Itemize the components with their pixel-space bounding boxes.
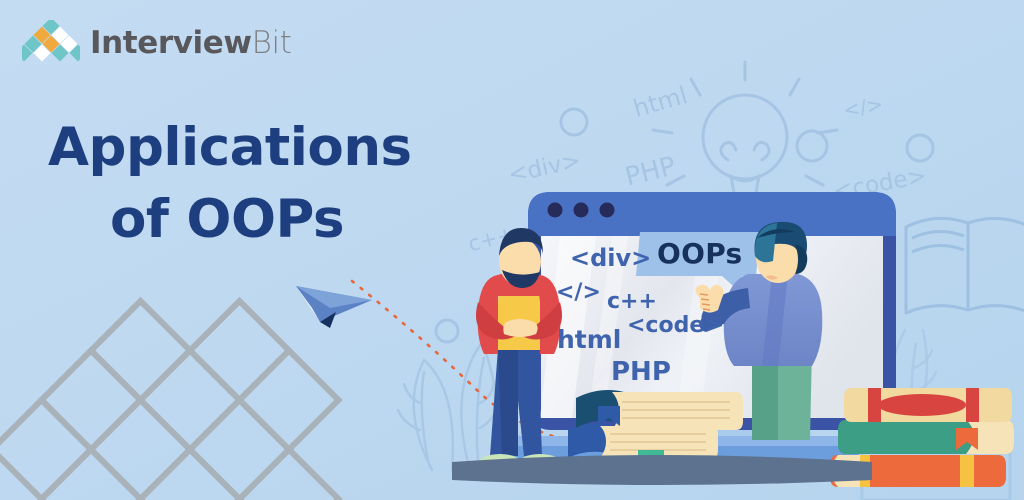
oops-callout-label: OOPs	[657, 237, 743, 270]
brand-wordmark: InterviewBit	[90, 25, 292, 61]
brand-logo[interactable]: InterviewBit	[22, 20, 292, 66]
screen-token-php: PHP	[611, 357, 671, 387]
interviewbit-diamond-logo	[22, 20, 80, 66]
window-dots	[548, 203, 615, 218]
page-title-line1: Applications	[48, 117, 412, 178]
screen-token-slash: </>	[556, 280, 601, 305]
page-title: Applications of OOPs	[48, 112, 412, 256]
screen-token-code: <code>	[627, 313, 723, 338]
screen-token-html: html	[557, 325, 621, 354]
ground-shadow	[452, 455, 872, 485]
brand-name-part2: Bit	[252, 25, 292, 61]
screen-token-div: <div>	[570, 244, 651, 272]
screen-token-cpp: c++	[607, 289, 657, 314]
page-title-line2: of OOPs	[48, 184, 412, 256]
brand-name-part1: Interview	[90, 25, 252, 61]
banner-root: <div> html PHP c++ </> <code>	[0, 0, 1024, 500]
